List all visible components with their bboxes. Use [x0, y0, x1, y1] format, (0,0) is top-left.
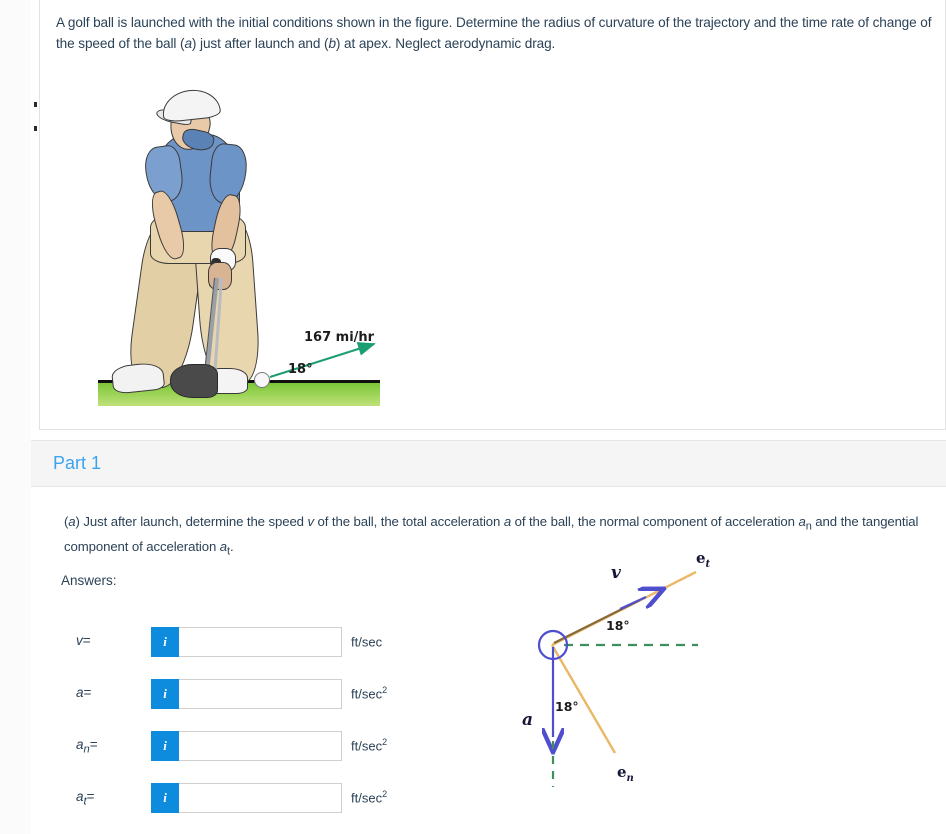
vector-angle-top: 18° [606, 618, 630, 633]
answers-label: Answers: [61, 573, 117, 588]
answer-equals-an: = [90, 737, 98, 752]
answer-symbol-at: at= [76, 789, 95, 808]
figure-angle-label: 18° [288, 362, 313, 377]
gutter-marker-dot-top [34, 102, 37, 107]
part-prompt-a: a [504, 514, 511, 529]
answer-symbol-an-base: a [76, 737, 84, 752]
answer-symbol-v-base: v [76, 633, 83, 648]
info-icon-an[interactable]: i [151, 731, 179, 761]
info-icon-a[interactable]: i [151, 679, 179, 709]
vector-label-a: a [522, 710, 533, 730]
part-prompt-end: . [230, 539, 234, 554]
vector-angle-bottom: 18° [555, 699, 579, 714]
answer-equals-v: = [83, 633, 91, 648]
info-icon-v[interactable]: i [151, 627, 179, 657]
answer-input-v[interactable] [179, 627, 342, 657]
answer-unit-a: ft/sec2 [351, 685, 387, 701]
figure-speed-label: 167 mi/hr [304, 330, 374, 345]
vector-label-v: v [611, 563, 621, 583]
answer-unit-an: ft/sec2 [351, 737, 387, 753]
part-header: Part 1 [31, 440, 946, 487]
problem-statement-italic-b: b [328, 36, 335, 51]
vector-label-et-base: e [696, 549, 706, 567]
unit-vector-diagram: v et en a 18° 18° [500, 545, 780, 815]
vector-label-et: et [696, 549, 710, 570]
problem-statement-seg-3: ) at apex. Neglect aerodynamic drag. [336, 36, 555, 51]
answer-symbol-a-base: a [76, 685, 84, 700]
answer-input-a[interactable] [179, 679, 342, 709]
part-prompt-mid1: of the ball, the total acceleration [314, 514, 504, 529]
problem-card: A golf ball is launched with the initial… [39, 0, 946, 430]
vector-label-en: en [617, 763, 634, 784]
answer-unit-an-text: ft/sec [351, 738, 382, 753]
answer-input-at[interactable] [179, 783, 342, 813]
left-gutter [0, 0, 31, 834]
answer-unit-v: ft/sec [351, 633, 382, 649]
answer-unit-at: ft/sec2 [351, 789, 387, 805]
answer-symbol-at-base: a [76, 789, 84, 804]
unit-vector-diagram-svg [500, 545, 780, 815]
part-prompt-an-base: a [798, 514, 805, 529]
vector-label-en-sub: n [627, 773, 634, 784]
answer-unit-a-exp: 2 [382, 685, 387, 695]
part-body: (a) Just after launch, determine the spe… [31, 487, 946, 834]
answer-unit-at-exp: 2 [382, 789, 387, 799]
vector-label-et-sub: t [706, 559, 711, 570]
launch-velocity-arrow-svg [98, 72, 380, 406]
answer-symbol-v: v= [76, 633, 91, 652]
problem-statement-seg-2: ) just after launch and ( [192, 36, 329, 51]
velocity-vector-arrowhead [620, 597, 646, 609]
part-prompt-at-base: a [220, 539, 227, 554]
answer-symbol-an: an= [76, 737, 98, 756]
answer-unit-at-text: ft/sec [351, 790, 382, 805]
answer-unit-v-text: ft/sec [351, 634, 382, 649]
answer-symbol-a: a= [76, 685, 91, 704]
part-prompt-lead: ) Just after launch, determine the speed [76, 514, 308, 529]
info-icon-at[interactable]: i [151, 783, 179, 813]
problem-statement-italic-a: a [184, 36, 191, 51]
answer-equals-a: = [84, 685, 92, 700]
vector-label-en-base: e [617, 763, 627, 781]
part-prompt-label: a [68, 514, 75, 529]
part-title: Part 1 [53, 453, 101, 474]
gutter-marker-dot-bottom [34, 126, 37, 131]
answer-equals-at: = [87, 789, 95, 804]
golfer-at-impact-figure: 167 mi/hr 18° [98, 72, 380, 406]
answer-unit-a-text: ft/sec [351, 686, 382, 701]
answer-input-an[interactable] [179, 731, 342, 761]
problem-statement: A golf ball is launched with the initial… [56, 12, 936, 54]
part-prompt-mid2: of the ball, the normal component of acc… [511, 514, 798, 529]
answer-unit-an-exp: 2 [382, 737, 387, 747]
launch-velocity-arrow [270, 344, 374, 377]
